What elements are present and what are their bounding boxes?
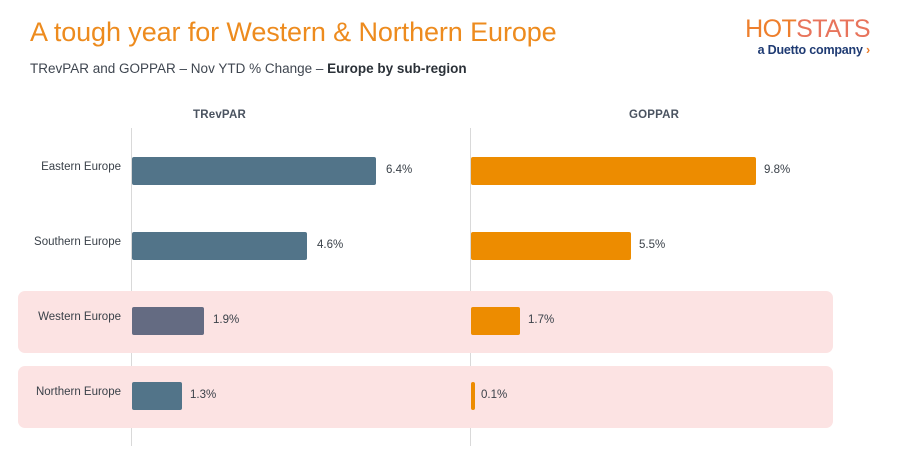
category-label: Western Europe bbox=[0, 310, 121, 325]
chevron-right-icon: › bbox=[866, 43, 870, 57]
chart-row: Northern Europe 1.3% 0.1% bbox=[0, 360, 910, 435]
bar-goppar bbox=[471, 157, 756, 185]
bar-trevpar bbox=[132, 157, 376, 185]
category-label: Eastern Europe bbox=[0, 160, 121, 175]
logo-word-hot: HOT bbox=[745, 15, 796, 43]
logo-word-stats: STATS bbox=[796, 15, 870, 43]
chart-row: Western Europe 1.9% 1.7% bbox=[0, 285, 910, 360]
bar-value-goppar: 0.1% bbox=[481, 388, 507, 403]
panel-header-goppar: GOPPAR bbox=[629, 109, 679, 121]
bar-value-trevpar: 1.3% bbox=[190, 388, 216, 403]
page-header: A tough year for Western & Northern Euro… bbox=[0, 0, 910, 95]
bar-trevpar bbox=[132, 307, 204, 335]
page-title: A tough year for Western & Northern Euro… bbox=[30, 17, 557, 48]
logo-tagline-text: a Duetto company bbox=[758, 43, 863, 57]
bar-value-trevpar: 1.9% bbox=[213, 313, 239, 328]
bar-goppar bbox=[471, 382, 475, 410]
panel-header-trevpar: TRevPAR bbox=[193, 109, 246, 121]
logo-tagline: a Duetto company › bbox=[730, 43, 870, 58]
bar-value-goppar: 1.7% bbox=[528, 313, 554, 328]
bar-value-goppar: 9.8% bbox=[764, 163, 790, 178]
subtitle-emphasis: Europe by sub-region bbox=[327, 61, 467, 76]
chart-area: TRevPAR GOPPAR Eastern Europe 6.4% 9.8% … bbox=[0, 95, 910, 465]
subtitle-prefix: TRevPAR and GOPPAR – Nov YTD % Change – bbox=[30, 61, 327, 76]
chart-rows: Eastern Europe 6.4% 9.8% Southern Europe… bbox=[0, 135, 910, 435]
logo-wordmark: HOTSTATS bbox=[730, 16, 870, 42]
bar-value-trevpar: 4.6% bbox=[317, 238, 343, 253]
category-label: Southern Europe bbox=[0, 235, 121, 250]
chart-row: Eastern Europe 6.4% 9.8% bbox=[0, 135, 910, 210]
page-subtitle: TRevPAR and GOPPAR – Nov YTD % Change – … bbox=[30, 61, 467, 76]
chart-row: Southern Europe 4.6% 5.5% bbox=[0, 210, 910, 285]
bar-value-goppar: 5.5% bbox=[639, 238, 665, 253]
category-label: Northern Europe bbox=[0, 385, 121, 400]
bar-trevpar bbox=[132, 232, 307, 260]
bar-goppar bbox=[471, 307, 520, 335]
bar-value-trevpar: 6.4% bbox=[386, 163, 412, 178]
bar-goppar bbox=[471, 232, 631, 260]
hotstats-logo: HOTSTATS a Duetto company › bbox=[730, 16, 870, 58]
bar-trevpar bbox=[132, 382, 182, 410]
